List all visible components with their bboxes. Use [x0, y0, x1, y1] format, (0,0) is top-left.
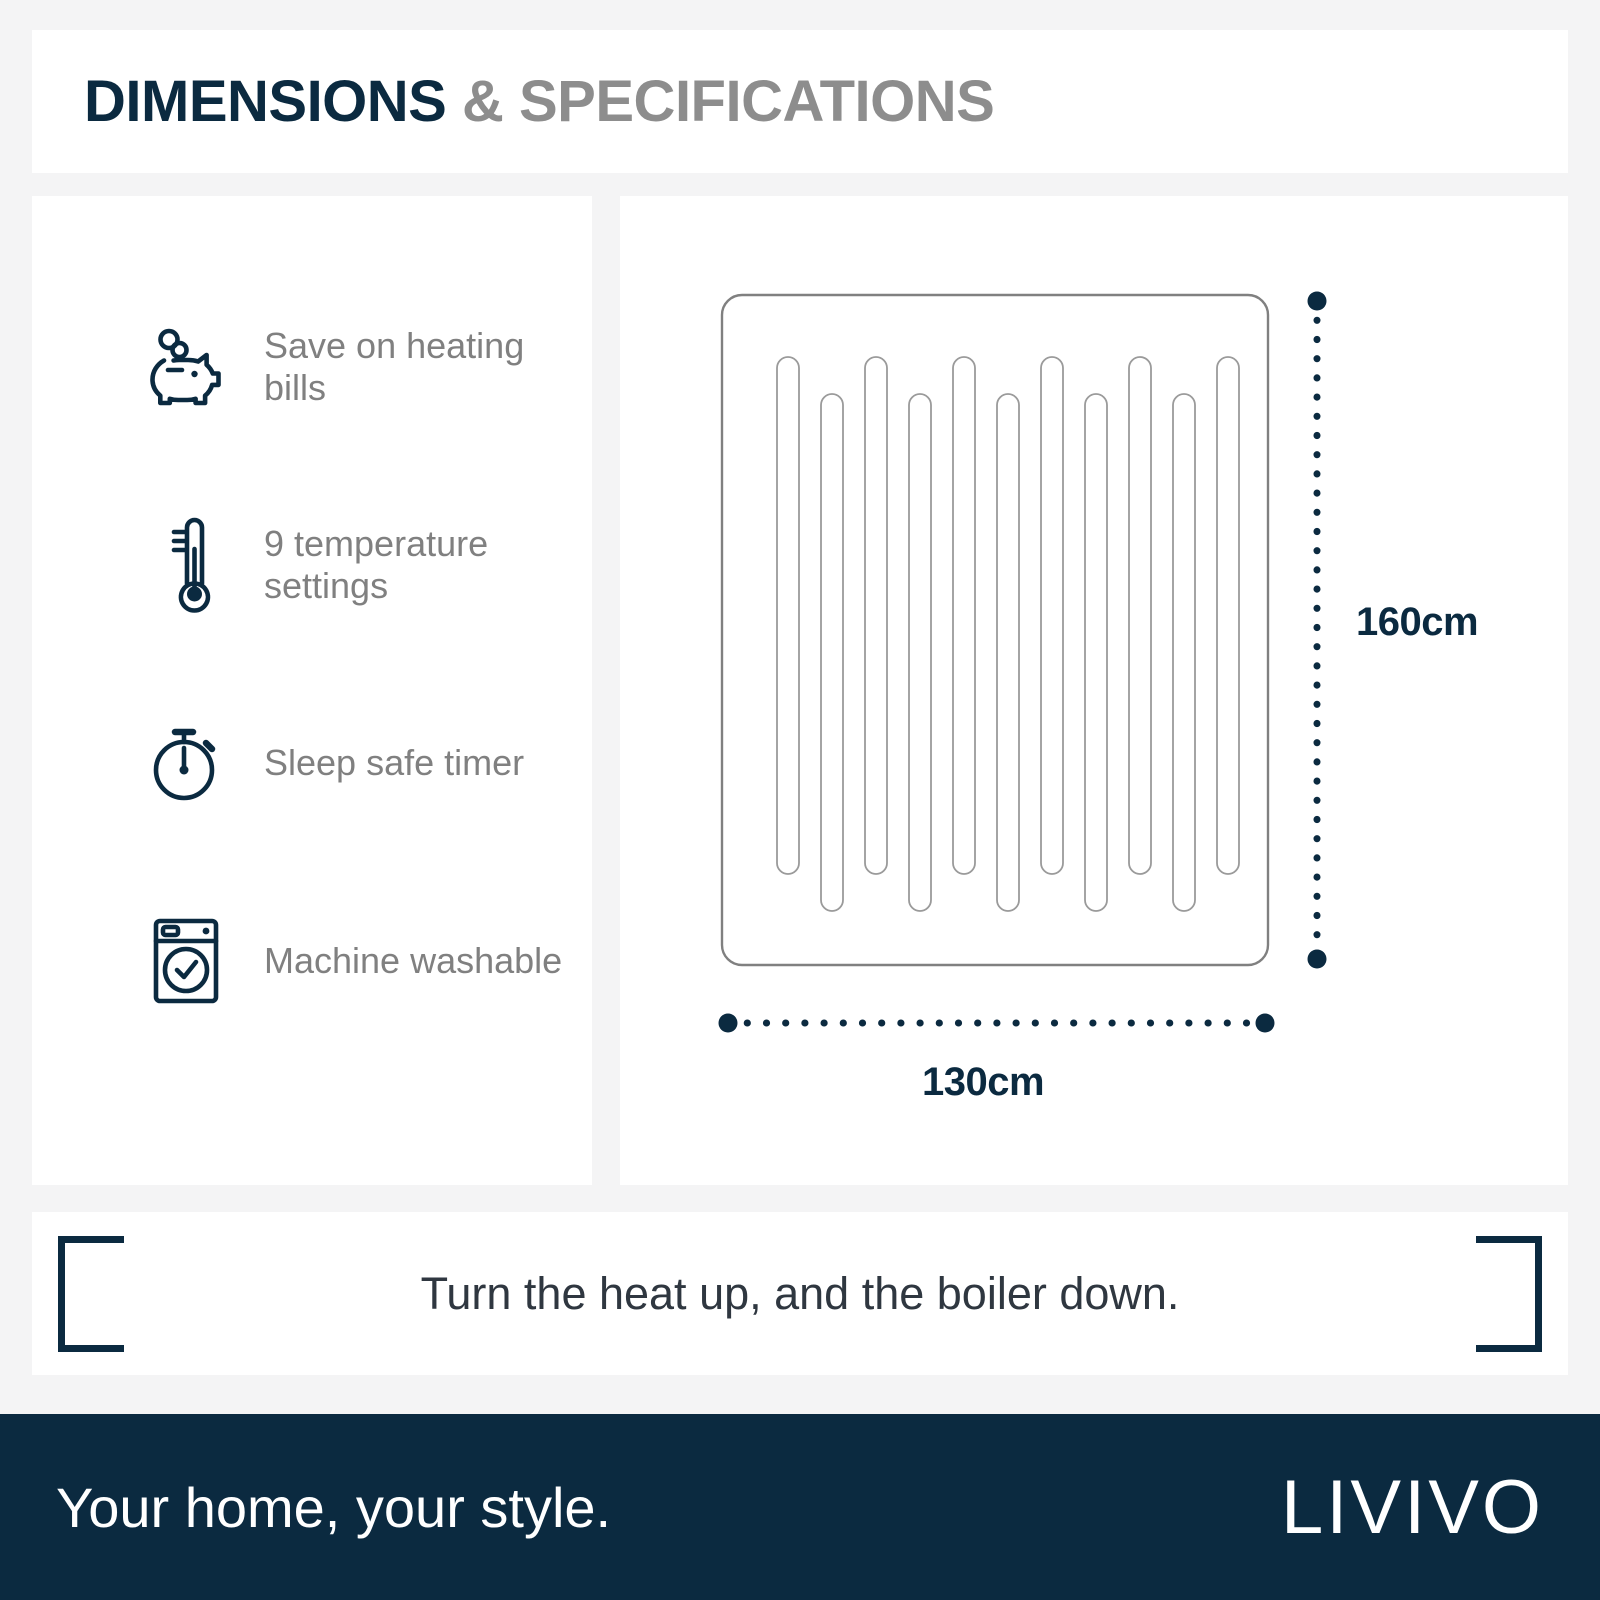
footer-bar: Your home, your style. LIVIVO	[0, 1414, 1600, 1600]
feature-item-save-on-heating-bills: Save on heating bills	[32, 268, 592, 466]
stopwatch-icon	[144, 711, 236, 815]
tagline-card: Turn the heat up, and the boiler down.	[32, 1212, 1568, 1375]
feature-label: 9 temperature settings	[264, 523, 592, 608]
product-spec-infographic: DIMENSIONS & SPECIFICATIONS Save on heat…	[0, 0, 1600, 1600]
feature-item-9-temperature-settings: 9 temperature settings	[32, 466, 592, 664]
feature-label: Machine washable	[264, 940, 562, 982]
width-dimension-label: 130cm	[700, 1060, 1266, 1105]
feature-label: Sleep safe timer	[264, 742, 524, 784]
diagram-card	[620, 196, 1568, 1185]
page-title-primary: DIMENSIONS	[84, 69, 446, 134]
height-dimension-line	[1308, 292, 1327, 969]
height-dimension-label: 160cm	[1356, 600, 1478, 645]
bracket-left-icon	[58, 1236, 124, 1352]
feature-item-machine-washable: Machine washable	[32, 862, 592, 1060]
blanket-diagram	[620, 196, 1568, 1185]
washing-machine-icon	[144, 909, 236, 1013]
features-card: Save on heating bills 9 temperature sett…	[32, 196, 592, 1185]
thermometer-icon	[144, 513, 236, 617]
page-title-secondary: & SPECIFICATIONS	[462, 69, 994, 134]
brand-logo: LIVIVO	[1281, 1464, 1544, 1551]
feature-label: Save on heating bills	[264, 325, 592, 410]
feature-item-sleep-safe-timer: Sleep safe timer	[32, 664, 592, 862]
tagline-text: Turn the heat up, and the boiler down.	[421, 1268, 1180, 1320]
page-title: DIMENSIONS & SPECIFICATIONS	[84, 68, 994, 135]
piggy-bank-icon	[144, 315, 236, 419]
width-dimension-line	[719, 1014, 1275, 1033]
footer-slogan: Your home, your style.	[56, 1475, 611, 1540]
bracket-right-icon	[1476, 1236, 1542, 1352]
header-card: DIMENSIONS & SPECIFICATIONS	[32, 30, 1568, 173]
